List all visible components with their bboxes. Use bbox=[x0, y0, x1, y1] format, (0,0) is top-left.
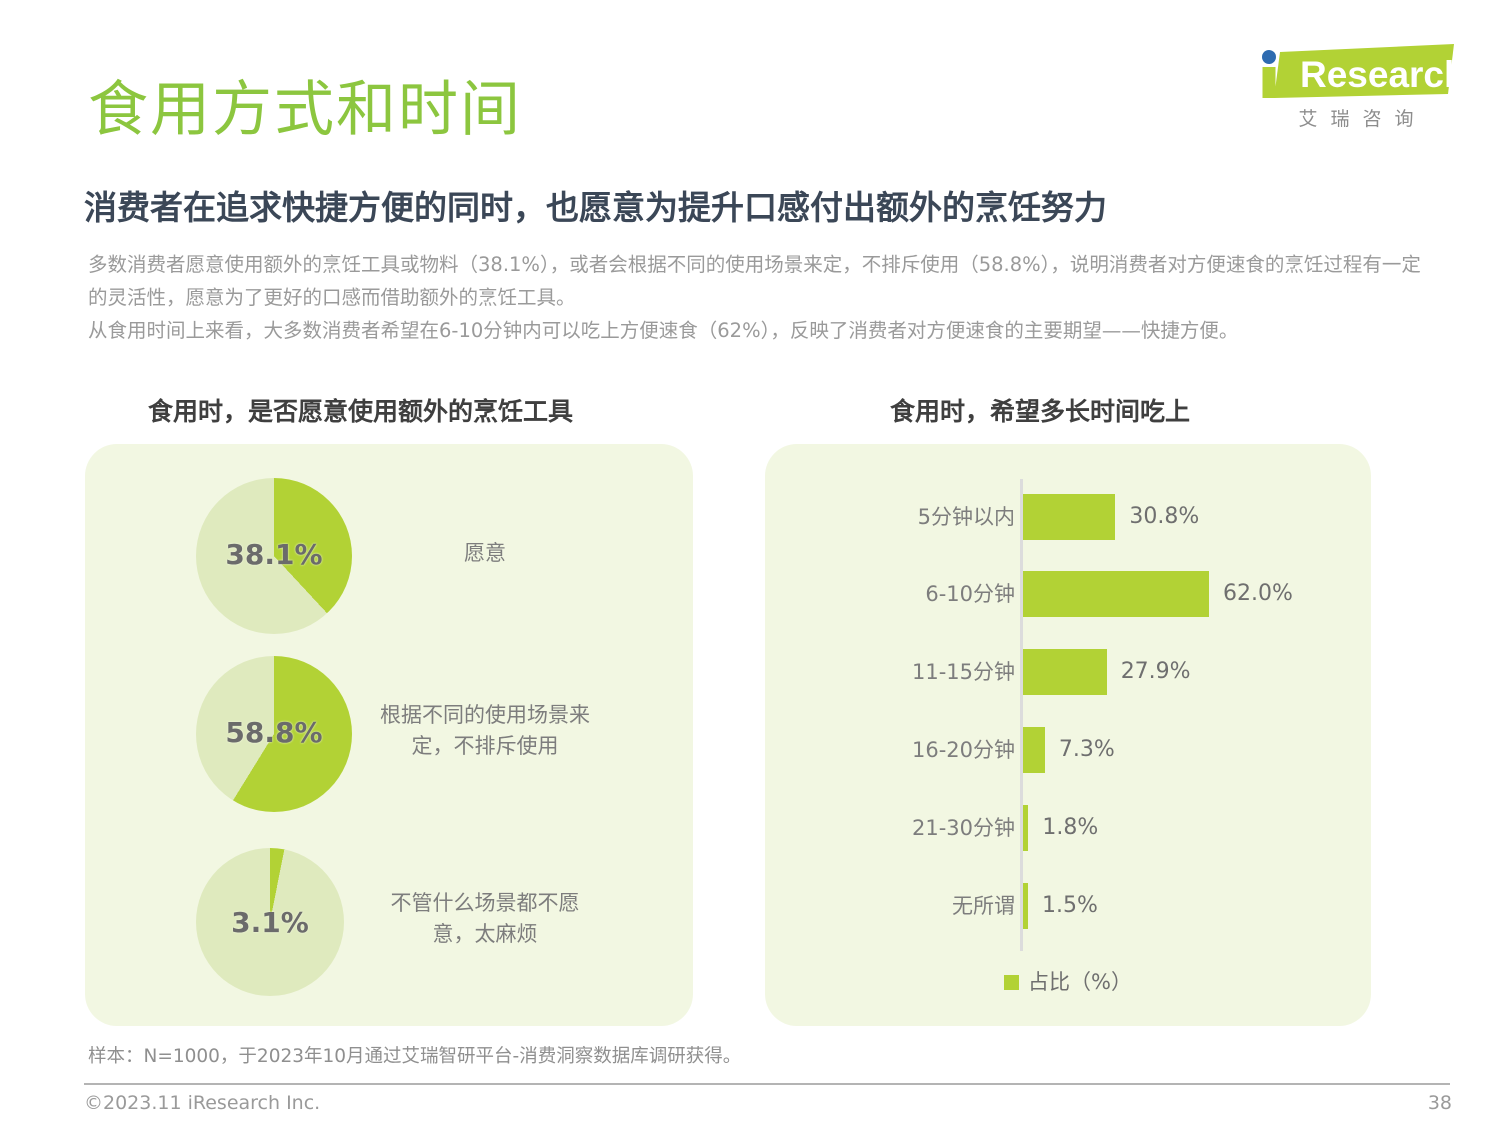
bar-value-0: 30.8% bbox=[1129, 479, 1199, 555]
footer-copyright: ©2023.11 iResearch Inc. bbox=[84, 1092, 320, 1114]
bar-row-3: 16-20分钟 7.3% bbox=[765, 712, 1371, 788]
body-copy: 多数消费者愿意使用额外的烹饪工具或物料（38.1%），或者会根据不同的使用场景来… bbox=[88, 248, 1433, 347]
pie-row-depends: 58.8% 根据不同的使用场景来定，不排斥使用 bbox=[0, 656, 608, 822]
legend-swatch-icon bbox=[1004, 975, 1019, 990]
bar-fill-5 bbox=[1023, 883, 1028, 929]
logo-mark-icon: Research bbox=[1258, 42, 1454, 100]
bar-category-1: 6-10分钟 bbox=[795, 556, 1015, 632]
bar-fill-3 bbox=[1023, 727, 1045, 773]
bar-value-1: 62.0% bbox=[1223, 556, 1293, 632]
bar-value-4: 1.8% bbox=[1042, 790, 1098, 866]
bar-value-2: 27.9% bbox=[1121, 634, 1191, 710]
bar-category-4: 21-30分钟 bbox=[795, 790, 1015, 866]
page-subtitle: 消费者在追求快捷方便的同时，也愿意为提升口感付出额外的烹饪努力 bbox=[84, 181, 1107, 229]
body-paragraph-1: 多数消费者愿意使用额外的烹饪工具或物料（38.1%），或者会根据不同的使用场景来… bbox=[88, 248, 1433, 314]
pie-label-3: 不管什么场景都不愿意，太麻烦 bbox=[370, 888, 600, 950]
pie-row-willing: 38.1% 愿意 bbox=[0, 478, 608, 644]
page-title: 食用方式和时间 bbox=[88, 76, 522, 145]
pie-row-unwilling: 3.1% 不管什么场景都不愿意，太麻烦 bbox=[0, 848, 608, 1004]
pie-chart-3: 3.1% bbox=[196, 848, 344, 996]
bar-category-5: 无所谓 bbox=[795, 868, 1015, 944]
bar-fill-1 bbox=[1023, 571, 1209, 617]
bar-fill-2 bbox=[1023, 649, 1107, 695]
bar-row-5: 无所谓 1.5% bbox=[765, 868, 1371, 944]
pie-label-1: 愿意 bbox=[370, 538, 600, 569]
pie-value-2: 58.8% bbox=[196, 716, 352, 749]
pie-value-3: 3.1% bbox=[196, 906, 344, 939]
legend-label: 占比（%） bbox=[1028, 970, 1132, 994]
iresearch-logo: Research 艾瑞咨询 bbox=[1258, 42, 1454, 138]
bar-row-2: 11-15分钟 27.9% bbox=[765, 634, 1371, 710]
pie-chart-title: 食用时，是否愿意使用额外的烹饪工具 bbox=[148, 392, 573, 428]
bar-value-5: 1.5% bbox=[1042, 868, 1098, 944]
bar-category-3: 16-20分钟 bbox=[795, 712, 1015, 788]
bar-category-0: 5分钟以内 bbox=[795, 479, 1015, 555]
pie-label-2: 根据不同的使用场景来定，不排斥使用 bbox=[370, 700, 600, 762]
bar-chart-legend: 占比（%） bbox=[765, 966, 1371, 996]
svg-text:Research: Research bbox=[1300, 54, 1454, 95]
page-number: 38 bbox=[1428, 1092, 1452, 1114]
body-paragraph-2: 从食用时间上来看，大多数消费者希望在6-10分钟内可以吃上方便速食（62%），反… bbox=[88, 314, 1433, 347]
pie-chart-2: 58.8% bbox=[196, 656, 352, 812]
footer-divider bbox=[84, 1083, 1450, 1085]
bar-chart-title: 食用时，希望多长时间吃上 bbox=[890, 392, 1190, 428]
source-note: 样本：N=1000，于2023年10月通过艾瑞智研平台-消费洞察数据库调研获得。 bbox=[88, 1042, 741, 1068]
pie-value-1: 38.1% bbox=[196, 538, 352, 571]
bar-row-1: 6-10分钟 62.0% bbox=[765, 556, 1371, 632]
logo-chinese-text: 艾瑞咨询 bbox=[1260, 104, 1452, 131]
bar-row-0: 5分钟以内 30.8% bbox=[765, 479, 1371, 555]
bar-value-3: 7.3% bbox=[1059, 712, 1115, 788]
bar-fill-0 bbox=[1023, 494, 1115, 540]
bar-fill-4 bbox=[1023, 805, 1028, 851]
pie-chart-1: 38.1% bbox=[196, 478, 352, 634]
bar-category-2: 11-15分钟 bbox=[795, 634, 1015, 710]
bar-row-4: 21-30分钟 1.8% bbox=[765, 790, 1371, 866]
